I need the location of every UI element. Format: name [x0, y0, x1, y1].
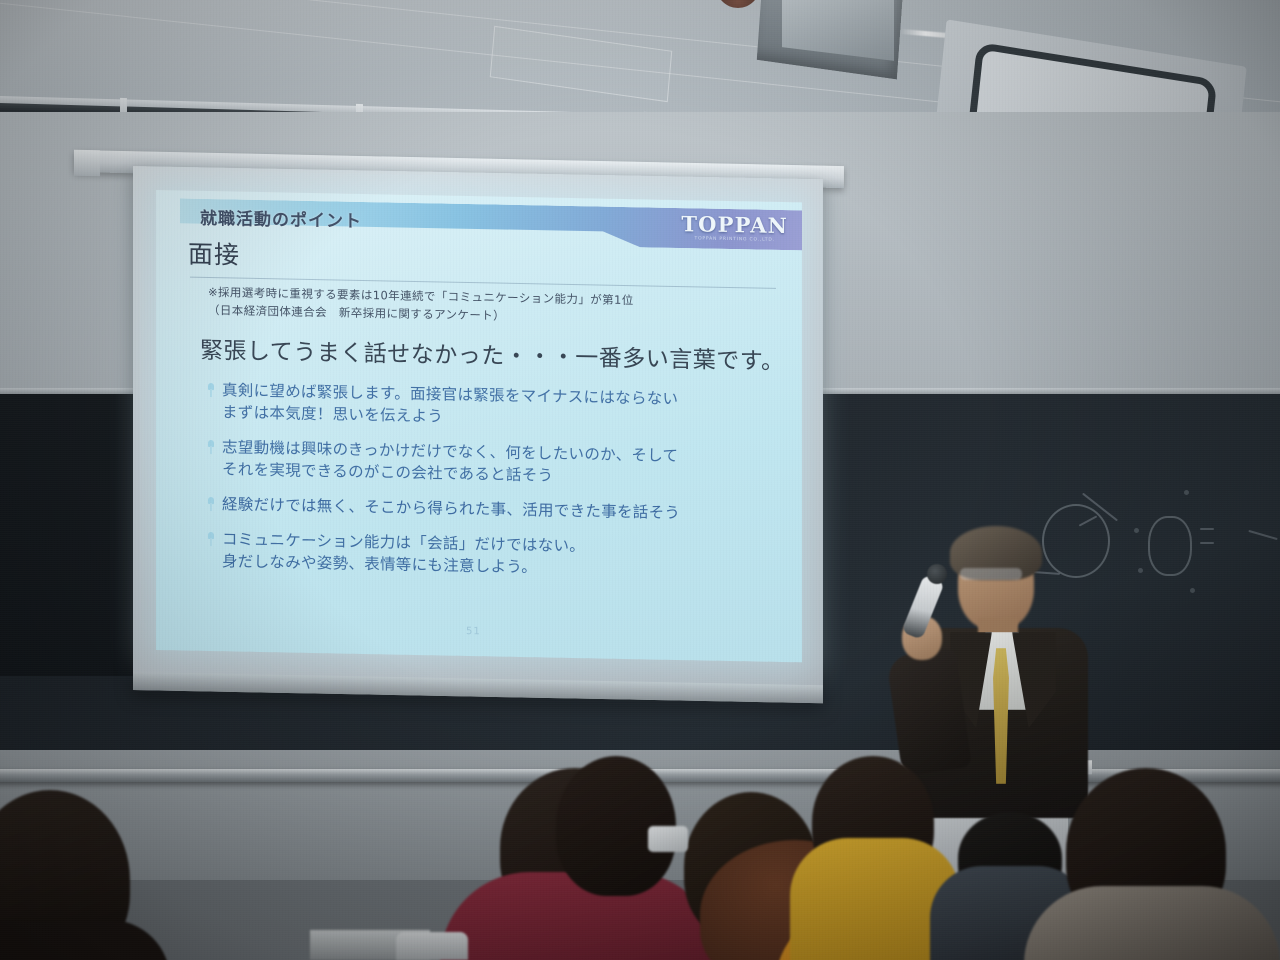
chalk-mark-dash — [1200, 528, 1214, 530]
slide-section-heading: 面接 — [188, 235, 240, 272]
chalk-dot — [1184, 490, 1189, 495]
audience-member-body — [0, 920, 170, 960]
slide-header-title: 就職活動のポイント — [200, 204, 362, 232]
presenter — [880, 520, 1110, 810]
toppan-logo: TOPPAN TOPPAN PRINTING CO.,LTD. — [681, 213, 788, 243]
handheld-phone — [648, 826, 688, 852]
bullet-marker-icon — [202, 383, 222, 399]
slide-bullet-item: コミュニケーション能力は「会話」だけではない。 身だしなみや姿勢、表情等にも注意… — [202, 528, 788, 583]
lecture-hall-photo: 就職活動のポイント TOPPAN TOPPAN PRINTING CO.,LTD… — [0, 0, 1280, 960]
slide-bullet-item: 経験だけでは無く、そこから得られた事、活用できた事を話そう — [202, 493, 788, 526]
bullet-marker-icon — [202, 497, 222, 513]
slide-note-block: ※採用選考時に重視する要素は10年連続で「コミュニケーション能力」が第1位 （日… — [208, 283, 788, 331]
slide-bullet-item: 志望動機は興味のきっかけだけでなく、何をしたいのか、そして それを実現できるのが… — [202, 436, 788, 491]
bullet-text-block: 経験だけでは無く、そこから得られた事、活用できた事を話そう — [222, 493, 680, 524]
audience-member-body — [1024, 886, 1280, 960]
projected-slide: 就職活動のポイント TOPPAN TOPPAN PRINTING CO.,LTD… — [156, 190, 802, 662]
microphone-capsule — [927, 564, 947, 584]
slide-bullet-list: 真剣に望めば緊張します。面接官は緊張をマイナスにはならない まずは本気度！思いを… — [202, 379, 788, 596]
bullet-text-block: 志望動機は興味のきっかけだけでなく、何をしたいのか、そして それを実現できるのが… — [222, 436, 678, 489]
chalk-mark-dash — [1200, 542, 1214, 544]
bullet-text-block: コミュニケーション能力は「会話」だけではない。 身だしなみや姿勢、表情等にも注意… — [222, 528, 585, 579]
glasses-icon — [960, 568, 1022, 580]
chalk-mark-oval — [1148, 516, 1192, 576]
slide-lead-statement: 緊張してうまく話せなかった・・・一番多い言葉です。 — [200, 331, 785, 376]
slide-bullet-item: 真剣に望めば緊張します。面接官は緊張をマイナスにはならない まずは本気度！思いを… — [202, 379, 788, 434]
chalk-dot — [1190, 588, 1195, 593]
toppan-wordmark: TOPPAN — [681, 213, 788, 236]
bullet-text-block: 真剣に望めば緊張します。面接官は緊張をマイナスにはならない まずは本気度！思いを… — [222, 379, 678, 432]
screen-housing-end-cap — [74, 150, 100, 177]
bullet-line: 経験だけでは無く、そこから得られた事、活用できた事を話そう — [222, 493, 680, 524]
chalk-dot — [1138, 568, 1143, 573]
chalk-dot — [1134, 528, 1139, 533]
chair-back — [396, 932, 468, 960]
bullet-marker-icon — [202, 532, 222, 548]
slide-page-number: 51 — [466, 626, 481, 637]
bullet-marker-icon — [202, 440, 222, 456]
